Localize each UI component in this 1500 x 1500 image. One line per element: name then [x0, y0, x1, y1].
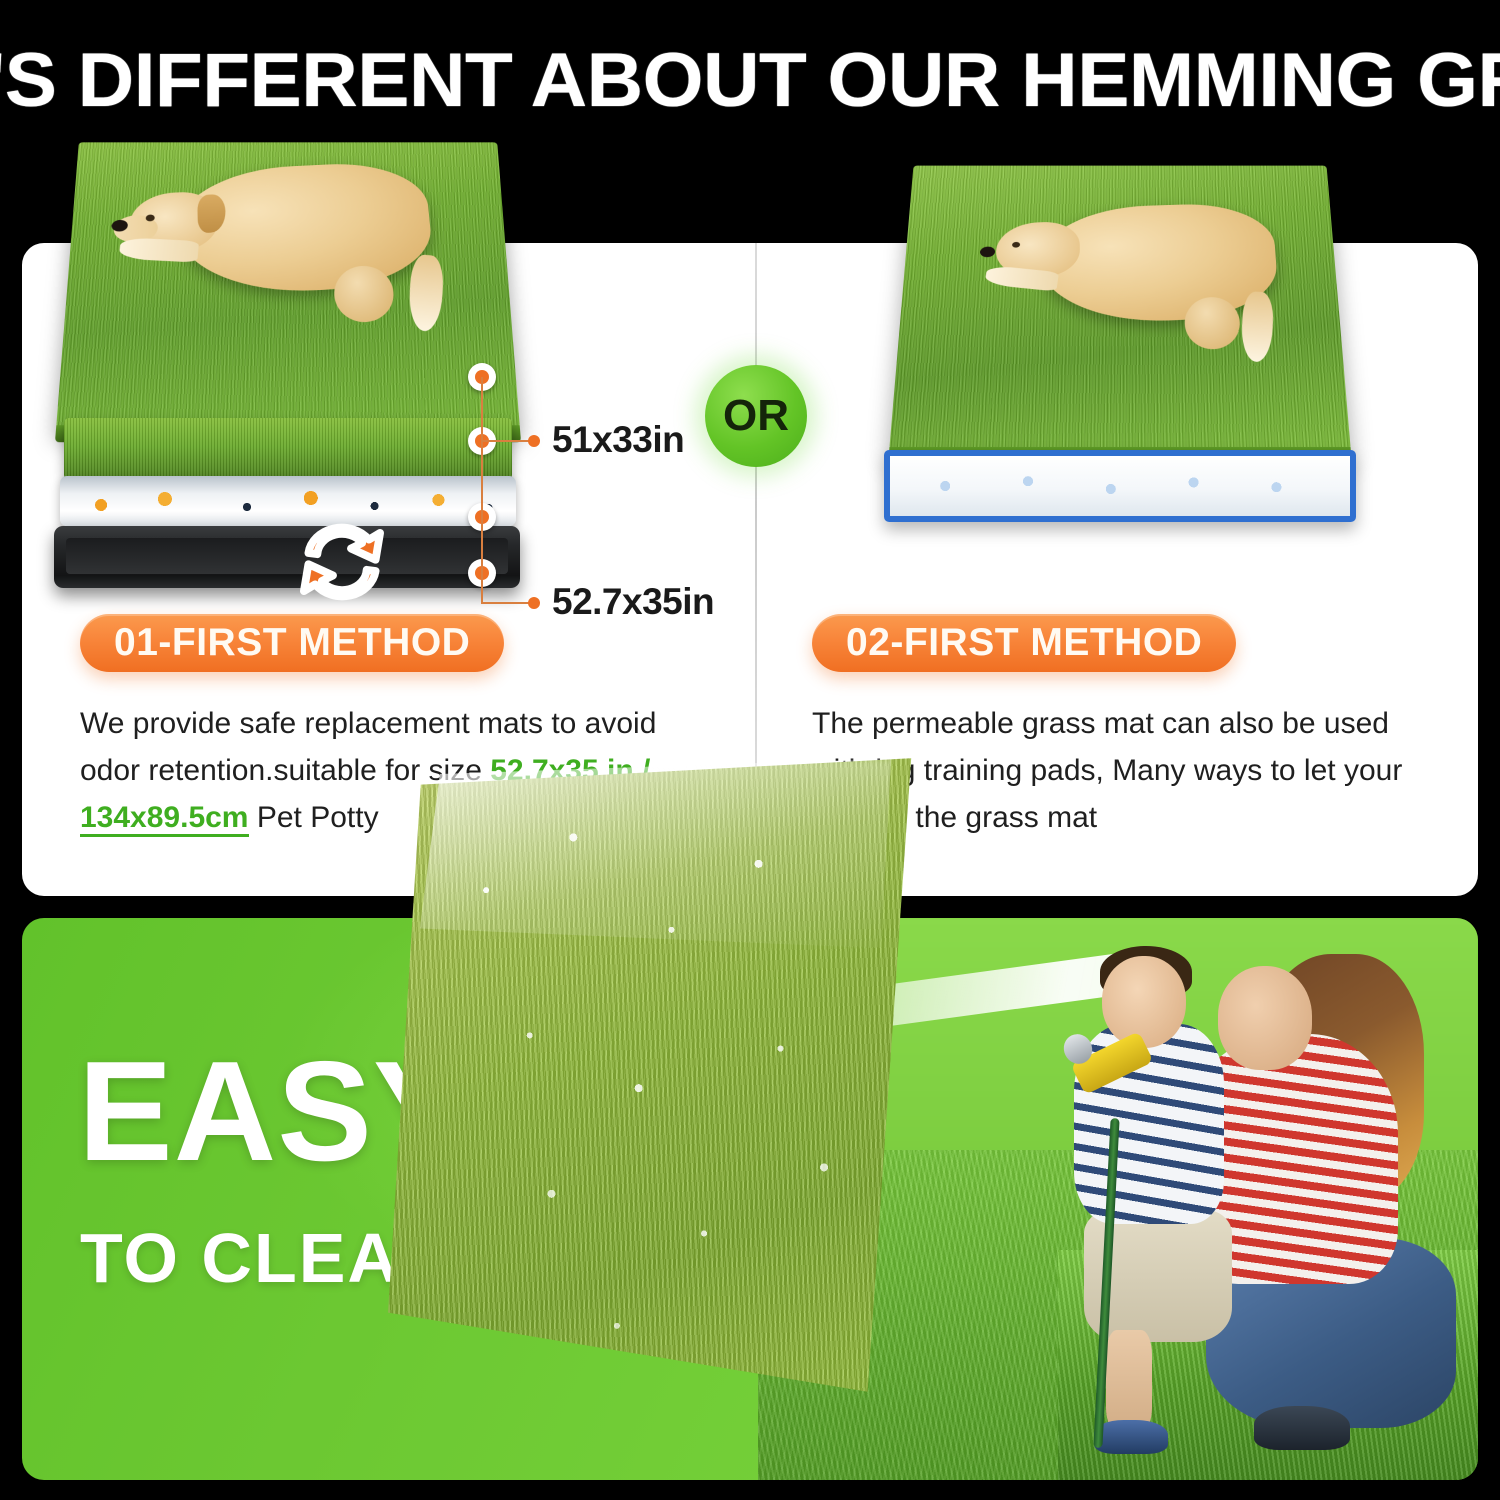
dog-eye	[1012, 242, 1020, 248]
woman-shoe	[1254, 1406, 1350, 1450]
wet-grass-mat-image	[388, 745, 933, 1405]
method-badge-01: 01-FIRST METHOD	[80, 614, 504, 672]
callout-endpoint-tray-size	[528, 597, 540, 609]
boy-head	[1102, 956, 1186, 1048]
blue-training-pad-layer	[884, 450, 1356, 522]
or-badge-label: OR	[723, 391, 789, 441]
family-with-hose-photo	[1058, 938, 1478, 1480]
callout-line-tray-size	[481, 602, 533, 604]
page-title: WHAT'S DIFFERENT ABOUT OUR HEMMING GRASS…	[0, 34, 1500, 126]
callout-vertical-line	[481, 377, 483, 573]
method-01-text-after: Pet Potty	[249, 801, 379, 834]
swap-arrows-icon	[286, 508, 398, 616]
callout-endpoint-mat-size	[528, 435, 540, 447]
left-product-stack-image	[48, 128, 528, 598]
method-badge-01-label: 01-FIRST METHOD	[114, 621, 470, 665]
callout-line-tray-drop	[481, 571, 483, 604]
boy-leg	[1106, 1330, 1152, 1432]
method-badge-02-label: 02-FIRST METHOD	[846, 621, 1202, 665]
dimension-label-tray: 52.7x35in	[552, 581, 714, 623]
right-product-stack-image	[880, 150, 1360, 580]
callout-line-mat-size	[481, 440, 533, 442]
grass-mat-replacement-layer	[64, 418, 512, 480]
dimension-label-mat: 51x33in	[552, 419, 684, 461]
or-badge: OR	[705, 365, 807, 467]
woman-head	[1218, 966, 1312, 1070]
dog-ear	[197, 194, 226, 233]
wet-grass-mat-water-sheen	[410, 758, 911, 956]
method-badge-02: 02-FIRST METHOD	[812, 614, 1236, 672]
boy-shoe	[1094, 1420, 1168, 1454]
